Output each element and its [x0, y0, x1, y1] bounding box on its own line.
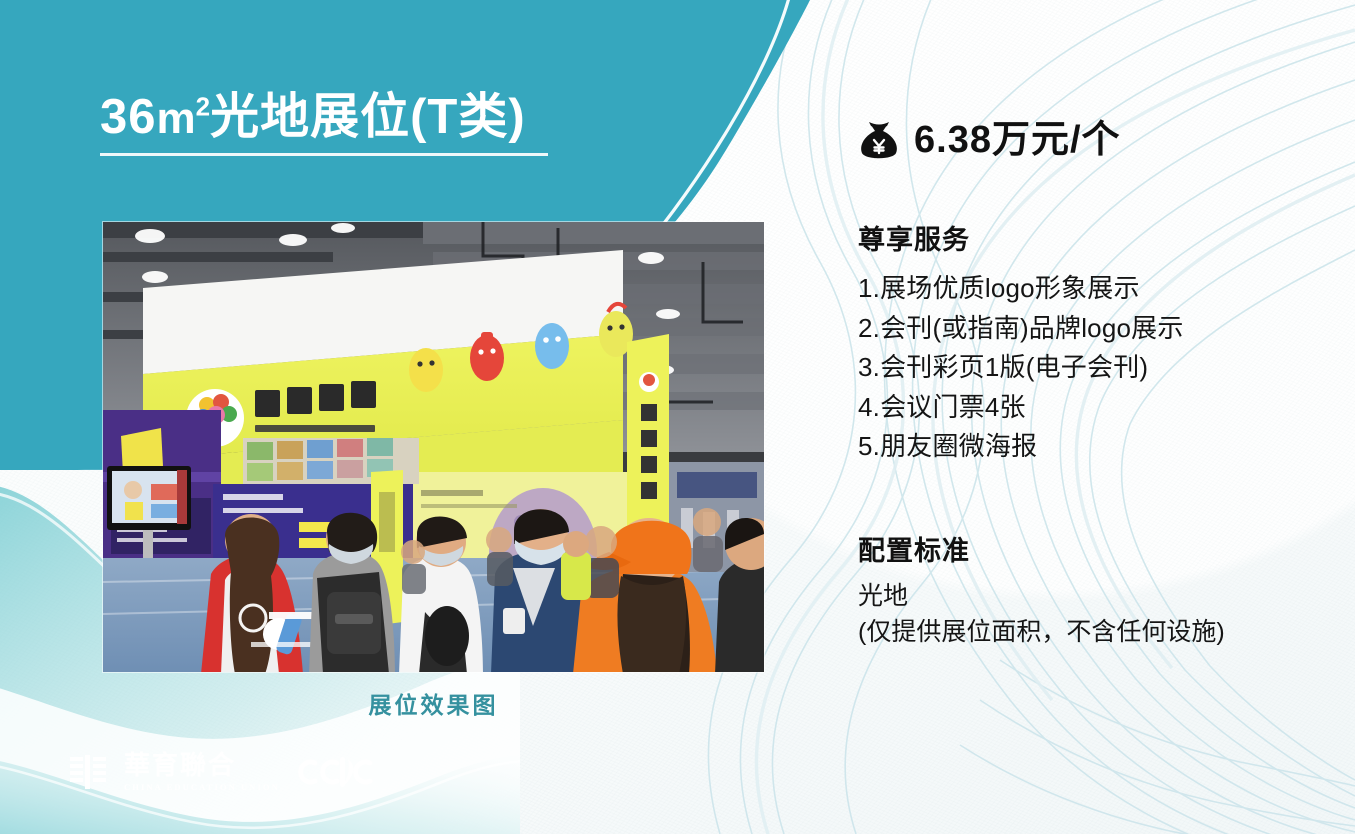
brand-text-block: 華育聯合 CHINA EDUCATION UNION	[124, 752, 280, 792]
brand-name-cn: 華育聯合	[124, 752, 280, 778]
slide-canvas: 36m2光地展位(T类)	[0, 0, 1355, 834]
brand-name-en: CHINA EDUCATION UNION	[124, 782, 280, 792]
brand-mark-icon	[70, 755, 108, 789]
footer-logo: 華育聯合 CHINA EDUCATION UNION	[70, 752, 376, 792]
title-rest: 光地展位(T类)	[210, 90, 526, 144]
photo-caption: 展位效果图	[103, 686, 764, 720]
cdc-logo-icon	[296, 755, 376, 789]
config-body: 光地 (仅提供展位面积，不含任何设施)	[858, 578, 1318, 651]
details-column: 6.38万元/个 尊享服务 1.展场优质logo形象展示 2.会刊(或指南)品牌…	[858, 118, 1318, 650]
service-item: 3.会刊彩页1版(电子会刊)	[858, 348, 1318, 388]
booth-photo-illustration	[103, 222, 764, 672]
title-area-unit: m	[157, 94, 196, 143]
config-line: 光地	[858, 578, 1318, 614]
page-title: 36m2光地展位(T类)	[100, 92, 660, 143]
services-list: 1.展场优质logo形象展示 2.会刊(或指南)品牌logo展示 3.会刊彩页1…	[858, 269, 1318, 467]
config-line: (仅提供展位面积，不含任何设施)	[858, 614, 1318, 650]
money-bag-icon	[858, 118, 900, 162]
service-item: 5.朋友圈微海报	[858, 427, 1318, 467]
service-item: 2.会刊(或指南)品牌logo展示	[858, 309, 1318, 349]
price-row: 6.38万元/个	[858, 118, 1318, 162]
services-heading: 尊享服务	[858, 218, 1318, 257]
title-underline	[100, 153, 548, 156]
service-item: 1.展场优质logo形象展示	[858, 269, 1318, 309]
title-area-number: 36	[100, 90, 157, 144]
config-heading: 配置标准	[858, 529, 1318, 568]
booth-photo	[103, 222, 764, 672]
title-area-superscript: 2	[196, 92, 210, 122]
service-item: 4.会议门票4张	[858, 388, 1318, 428]
slide-title-block: 36m2光地展位(T类)	[100, 92, 660, 156]
price-value: 6.38万元/个	[914, 121, 1121, 159]
